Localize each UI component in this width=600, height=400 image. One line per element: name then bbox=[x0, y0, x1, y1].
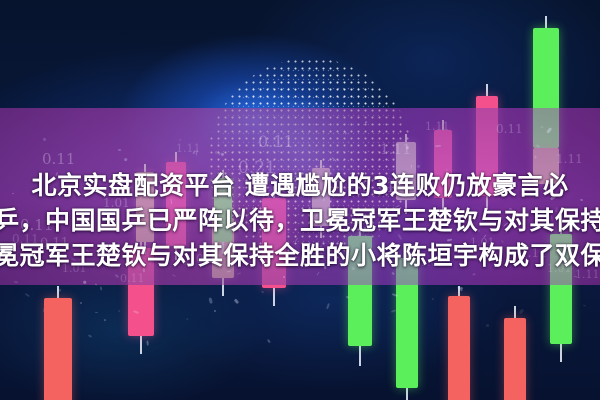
confetti-speck bbox=[510, 184, 512, 187]
confetti-speck bbox=[351, 266, 355, 270]
candlestick-body bbox=[504, 318, 526, 400]
confetti-speck bbox=[118, 149, 121, 151]
confetti-speck bbox=[146, 340, 149, 345]
confetti-speck bbox=[534, 155, 536, 158]
confetti-speck bbox=[331, 252, 334, 255]
confetti-speck bbox=[143, 267, 145, 271]
candlestick-body bbox=[44, 298, 72, 400]
candlestick-bar bbox=[504, 306, 526, 400]
candlestick-bar bbox=[448, 286, 470, 400]
confetti-speck bbox=[34, 255, 37, 260]
confetti-speck bbox=[83, 280, 86, 283]
confetti-speck bbox=[514, 212, 518, 215]
banner-image: 0.111.010.110.111.010.110.110.211.111.11… bbox=[0, 0, 600, 400]
confetti-speck bbox=[183, 261, 188, 265]
candlestick-bar bbox=[44, 286, 72, 400]
confetti-speck bbox=[186, 318, 188, 321]
confetti-speck bbox=[104, 319, 106, 321]
candlestick-body bbox=[448, 296, 470, 400]
confetti-speck bbox=[485, 324, 488, 327]
confetti-speck bbox=[554, 208, 557, 213]
purple-overlay-shade bbox=[0, 108, 600, 285]
